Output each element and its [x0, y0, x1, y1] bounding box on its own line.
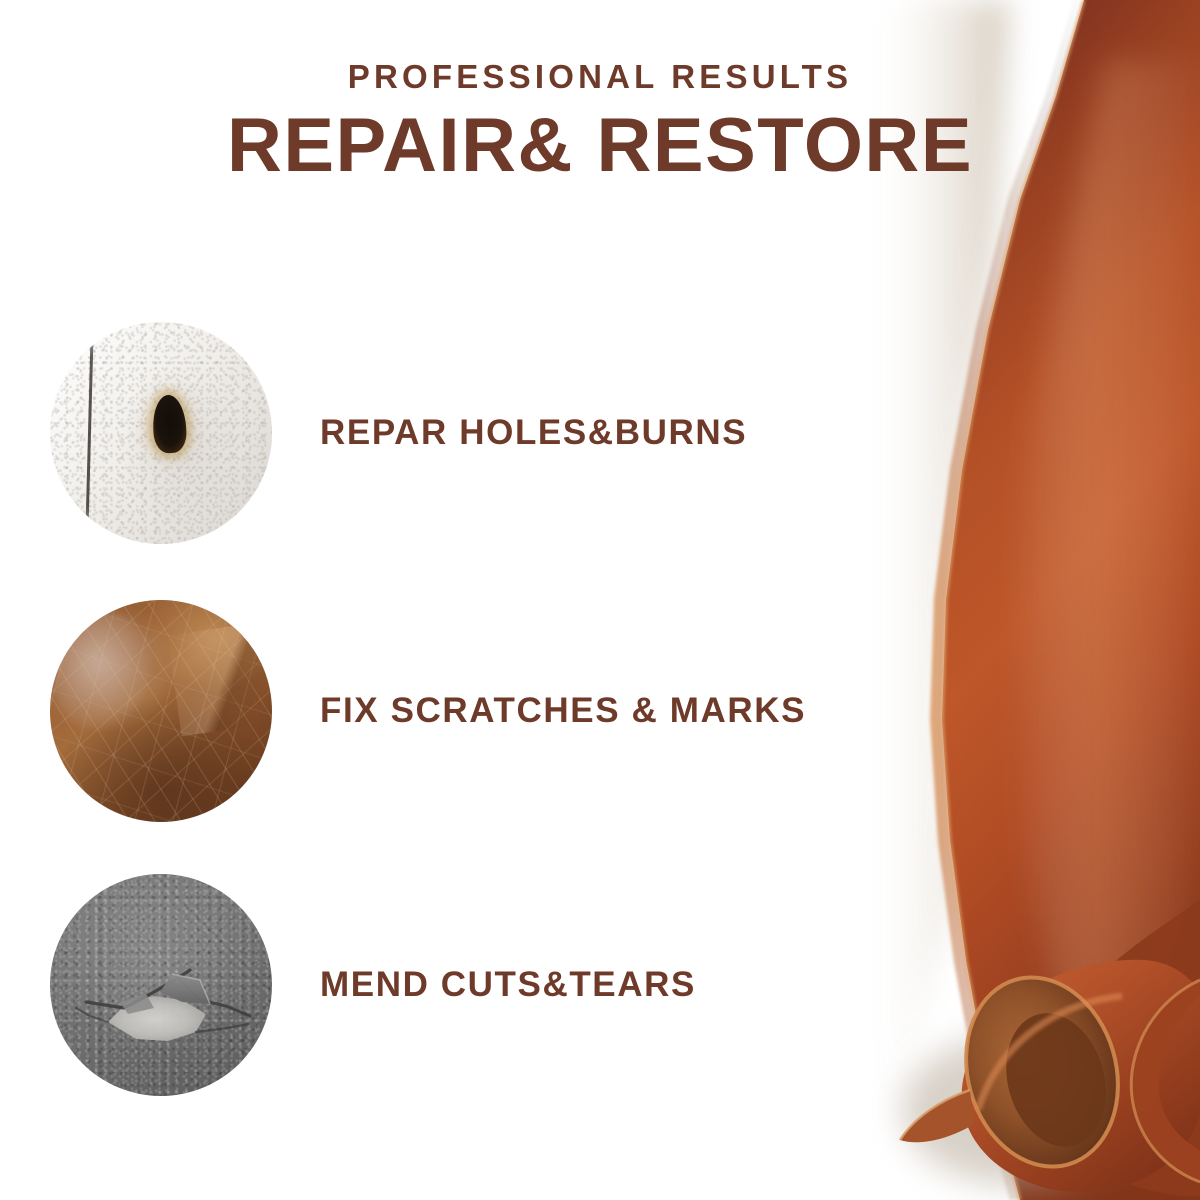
feature-row: MEND CUTS&TEARS [50, 874, 696, 1096]
leather-tear-shape [50, 874, 272, 1096]
feature-row: FIX SCRATCHES & MARKS [50, 600, 806, 822]
feature-label: FIX SCRATCHES & MARKS [320, 691, 806, 731]
feature-label: MEND CUTS&TEARS [320, 965, 696, 1005]
leather-crease [168, 619, 272, 736]
poster-canvas: PROFESSIONAL RESULTS REPAIR& RESTORE REP… [0, 0, 1200, 1200]
feature-label: REPAR HOLES&BURNS [320, 413, 747, 453]
gray-leather-tear-photo [50, 874, 272, 1096]
heading-block: PROFESSIONAL RESULTS REPAIR& RESTORE [0, 55, 1200, 187]
page-title: REPAIR& RESTORE [0, 105, 1200, 187]
feature-row: REPAR HOLES&BURNS [50, 322, 747, 544]
white-leather-burn-hole-photo [50, 322, 272, 544]
brown-leather-scratches-photo [50, 600, 272, 822]
eyebrow-text: PROFESSIONAL RESULTS [0, 55, 1200, 99]
